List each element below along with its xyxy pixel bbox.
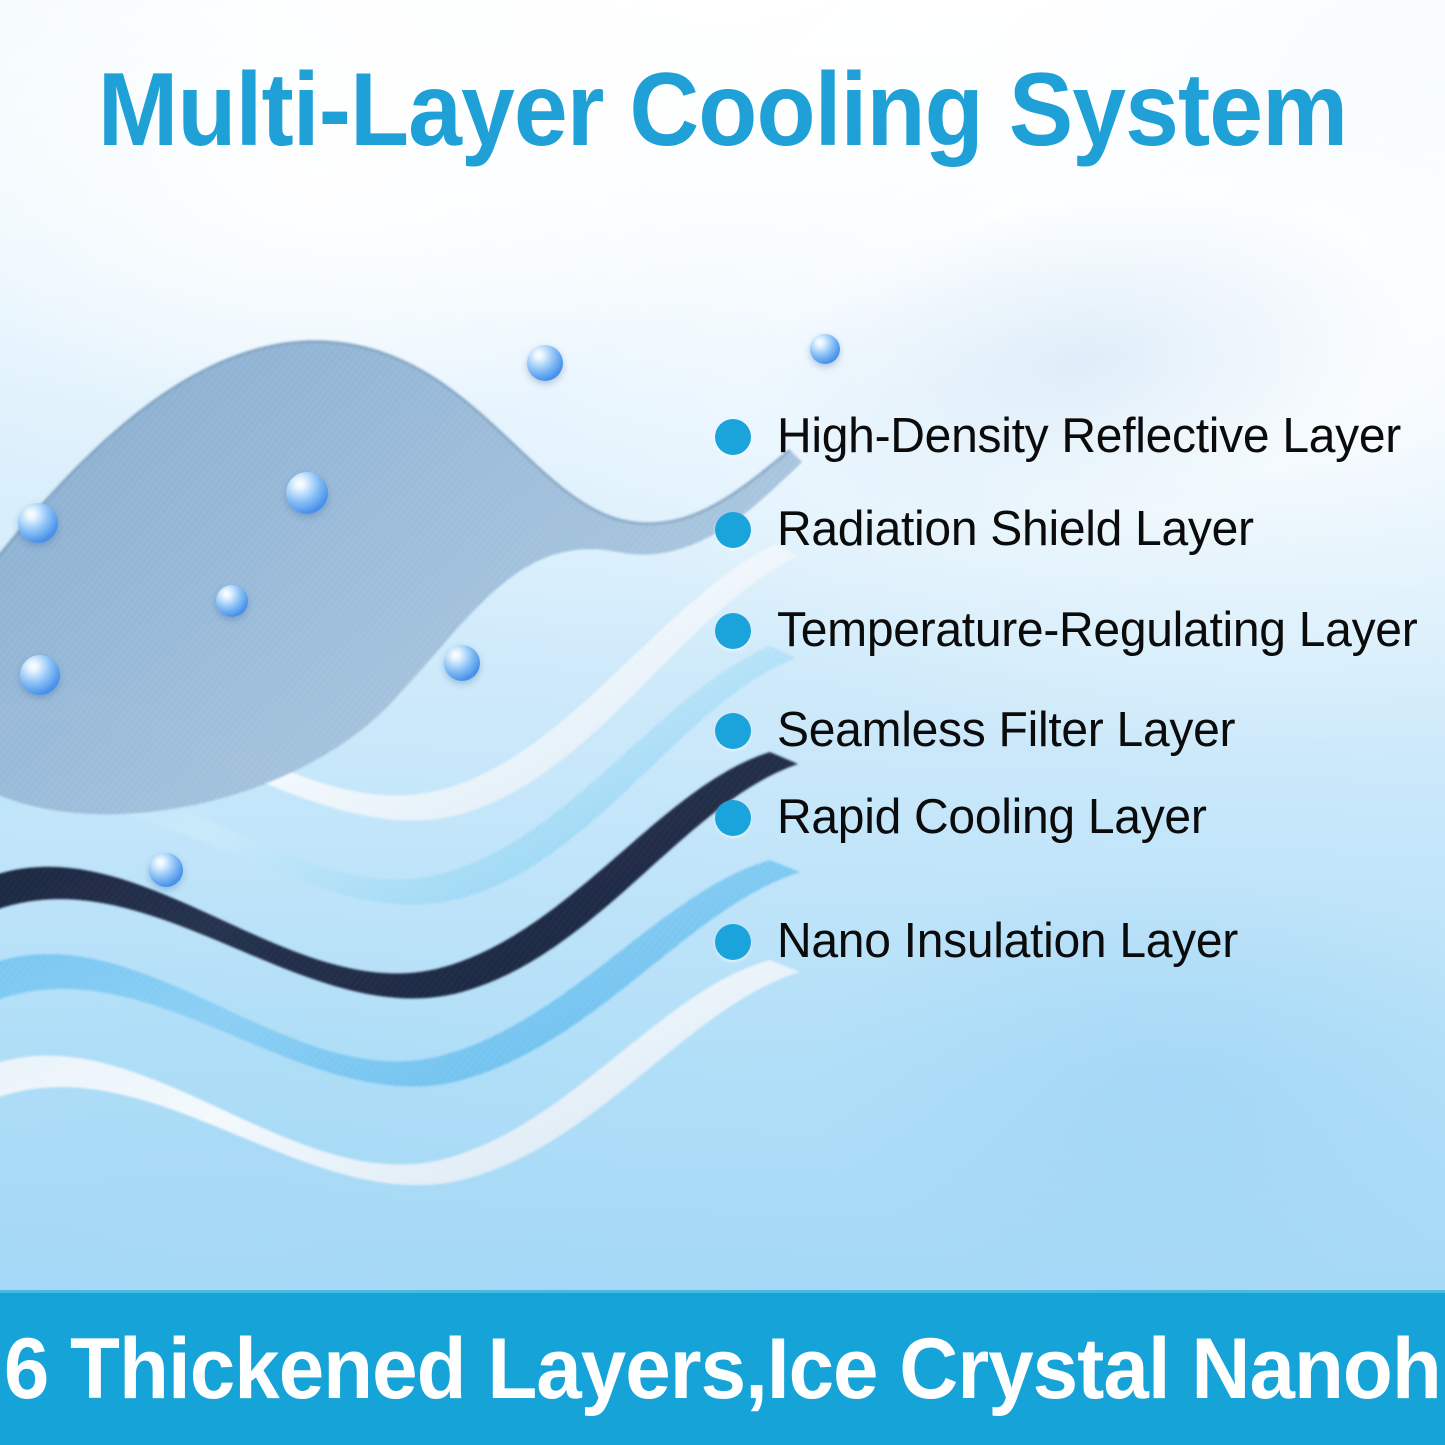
cooling-sphere-icon	[20, 655, 60, 695]
bullet-dot-icon	[715, 800, 751, 836]
sheet-high-density-reflective	[0, 341, 802, 814]
layer-label: Seamless Filter Layer	[777, 706, 1235, 755]
layer-label: Temperature-Regulating Layer	[777, 606, 1417, 655]
layer-row-1[interactable]: High-Density Reflective Layer	[715, 412, 1414, 461]
layer-label: Rapid Cooling Layer	[777, 793, 1207, 842]
cooling-sphere-icon	[149, 853, 183, 887]
bullet-dot-icon	[715, 512, 751, 548]
cooling-sphere-icon	[216, 585, 248, 617]
bottom-banner: 6 Thickened Layers,Ice Crystal Nanoh	[0, 1290, 1445, 1445]
poster-canvas: Multi-Layer Cooling System	[0, 0, 1445, 1445]
fabric-stack-svg	[0, 300, 830, 1300]
multi-layer-fabric-illustration	[0, 300, 830, 1300]
layer-label-list: High-Density Reflective Layer Radiation …	[715, 0, 1445, 1290]
layer-row-6[interactable]: Nano Insulation Layer	[715, 917, 1247, 966]
bullet-dot-icon	[715, 613, 751, 649]
bullet-dot-icon	[715, 924, 751, 960]
cooling-sphere-icon	[286, 472, 328, 514]
cooling-sphere-icon	[18, 503, 58, 543]
layer-row-4[interactable]: Seamless Filter Layer	[715, 706, 1245, 755]
bullet-dot-icon	[715, 713, 751, 749]
cooling-sphere-icon	[444, 645, 480, 681]
banner-text: 6 Thickened Layers,Ice Crystal Nanoh	[4, 1326, 1441, 1412]
layer-label: High-Density Reflective Layer	[777, 412, 1401, 461]
layer-row-2[interactable]: Radiation Shield Layer	[715, 505, 1263, 554]
layer-label: Nano Insulation Layer	[777, 917, 1238, 966]
bullet-dot-icon	[715, 419, 751, 455]
layer-row-3[interactable]: Temperature-Regulating Layer	[715, 606, 1430, 655]
cooling-sphere-icon	[527, 345, 563, 381]
layer-label: Radiation Shield Layer	[777, 505, 1254, 554]
layer-row-5[interactable]: Rapid Cooling Layer	[715, 793, 1215, 842]
